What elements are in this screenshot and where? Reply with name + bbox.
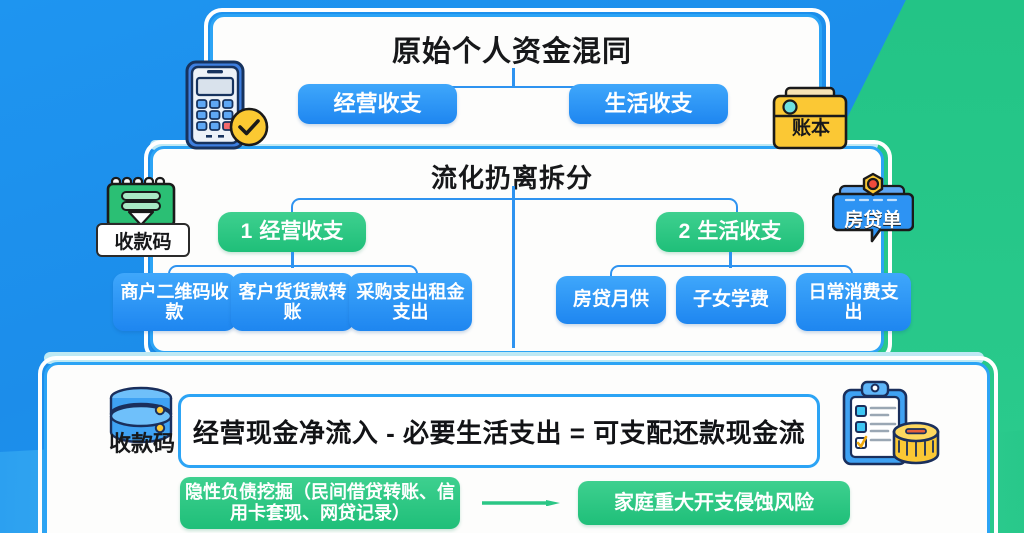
- mortgage-document-icon-label: 房贷单: [832, 205, 914, 232]
- tier1-box-1[interactable]: 生活收支: [569, 84, 728, 124]
- tier2-branch-0-number: 1: [241, 220, 253, 244]
- arrow-right-icon: [482, 500, 560, 506]
- household-risk-box[interactable]: 家庭重大开支侵蚀风险: [578, 481, 850, 525]
- receipt-printer-icon-label: 收款码: [96, 223, 190, 257]
- clipboard-checklist-icon: [838, 380, 942, 466]
- ledger-icon-label: 账本: [770, 113, 852, 140]
- check-badge-icon: [228, 106, 270, 148]
- receipt-printer-label-text: 收款码: [114, 227, 171, 254]
- tier2-branch-0-child-2[interactable]: 采购支出租金支出: [349, 273, 472, 331]
- tier2-branch-1-label: 生活收支: [697, 220, 781, 244]
- cash-flow-equation-text: 经营现金净流入 - 必要生活支出 = 可支配还款现金流: [193, 413, 805, 450]
- tier1-stem-line: [512, 68, 515, 88]
- tier2-branch-1-badge[interactable]: 2 生活收支: [656, 212, 804, 252]
- hidden-debt-box[interactable]: 隐性负债挖掘（民间借贷转账、信用卡套现、网贷记录）: [180, 477, 460, 529]
- tier2-branch-0-child-1[interactable]: 客户货货款转账: [231, 273, 354, 331]
- tier1-box-0[interactable]: 经营收支: [298, 84, 457, 124]
- tier2-branch-1-child-1[interactable]: 子女学费: [676, 276, 786, 324]
- database-icon-label: 收款码: [90, 426, 194, 458]
- tier2-branch-1-child-2[interactable]: 日常消费支出: [796, 273, 911, 331]
- tier1-box-0-label: 经营收支: [333, 92, 421, 117]
- tier2-branch-1-child-2-label: 日常消费支出: [801, 282, 906, 322]
- tier2-branch-0-child-1-label: 客户货货款转账: [237, 282, 348, 322]
- tier2-branch-0-badge[interactable]: 1 经营收支: [218, 212, 366, 252]
- infographic-canvas: 原始个人资金混同 经营收支 生活收支 流化扔离拆分 1 经营收支 商户二维码收款…: [0, 0, 1024, 533]
- tier2-branch-0-label: 经营收支: [259, 220, 343, 244]
- household-risk-label: 家庭重大开支侵蚀风险: [614, 492, 814, 515]
- tier2-branch-1-child-0[interactable]: 房贷月供: [556, 276, 666, 324]
- tier2-branch-1-child-0-label: 房贷月供: [573, 289, 649, 310]
- hidden-debt-label: 隐性负债挖掘（民间借贷转账、信用卡套现、网贷记录）: [180, 482, 460, 523]
- tier1-box-1-label: 生活收支: [604, 92, 692, 117]
- tier1-title: 原始个人资金混同: [0, 28, 1024, 70]
- tier2-branch-1-child-1-label: 子女学费: [693, 289, 769, 310]
- tier2-branch-1-number: 2: [679, 220, 691, 244]
- coin-stack-icon: [894, 423, 938, 463]
- tier2-branch-0-child-0[interactable]: 商户二维码收款: [113, 273, 236, 331]
- tier2-branch-0-child-2-label: 采购支出租金支出: [355, 282, 466, 322]
- cash-flow-equation-box: 经营现金净流入 - 必要生活支出 = 可支配还款现金流: [178, 394, 820, 468]
- tier2-branch-0-child-0-label: 商户二维码收款: [119, 282, 230, 322]
